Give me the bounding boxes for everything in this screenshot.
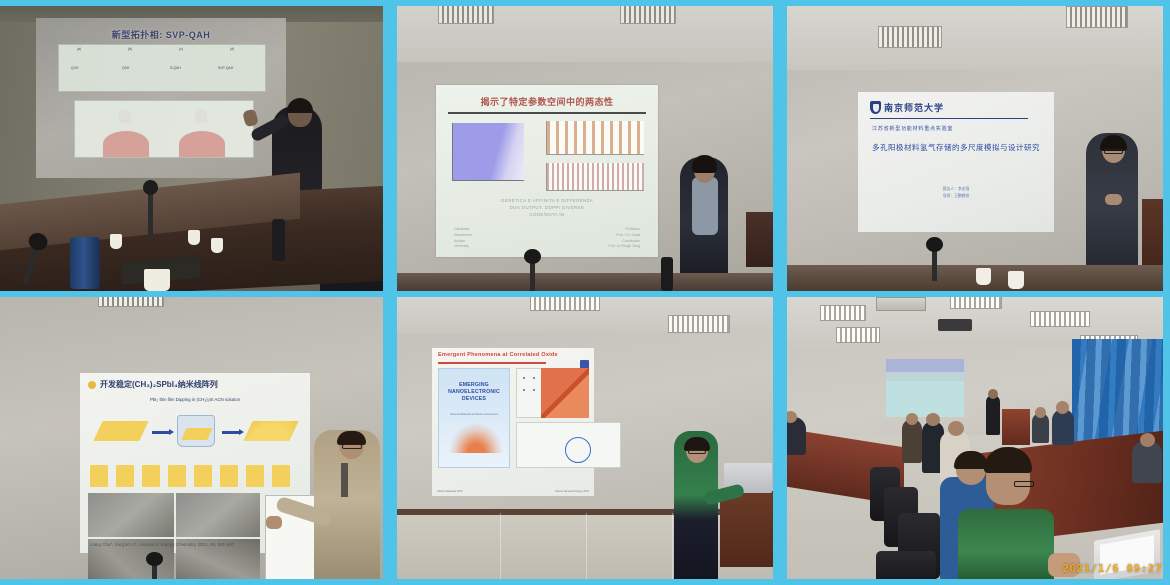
lattice-dot: [533, 389, 535, 391]
paper-cup-1: [976, 268, 991, 285]
credit-line-3: CODE/DATA IN: [436, 211, 658, 218]
peak-right: [179, 131, 225, 157]
name-left-4: University: [454, 244, 472, 250]
presenter-tie: [341, 463, 348, 497]
attendee-left-1: [902, 419, 922, 463]
phase-label-sqah: S-QAH: [170, 66, 181, 70]
lab-name: 江苏省新型功能材料重点实验室: [872, 125, 953, 132]
circle-diagram: [565, 437, 591, 463]
sample-strip-3: [142, 465, 160, 487]
frame-left: [390, 291, 397, 585]
podium: [1002, 409, 1030, 445]
paper-cup-4: [144, 269, 170, 291]
curve-left: [119, 109, 131, 123]
sample-strip-5: [194, 465, 212, 487]
cover-subtitle: Advanced Materials and Device Architectu…: [443, 413, 505, 416]
presenter-hair: [684, 437, 710, 451]
sample-strip-4: [168, 465, 186, 487]
sample-strip-2: [116, 465, 134, 487]
fig-label-c: (c): [179, 47, 183, 51]
paper-cup-2: [1008, 271, 1024, 289]
presenter-glasses: [688, 450, 706, 454]
frame-top: [390, 291, 780, 297]
standing-speaker-head: [988, 389, 998, 399]
floor-tile-line: [586, 513, 587, 585]
presenter-torso: [692, 177, 718, 235]
ceiling-projector: [938, 319, 972, 331]
photo-panel-6: 2021/1/6 09:27: [780, 291, 1170, 585]
slide-authors: 报告人：李志强 导师：王鹏教授: [858, 186, 1054, 200]
panel-6-image: 2021/1/6 09:27: [780, 291, 1170, 585]
cover-title: EMERGING NANOELECTRONIC DEVICES: [439, 382, 509, 403]
timeseries-chart-bottom: [546, 163, 644, 191]
podium: [720, 491, 776, 567]
frame-right: [383, 0, 390, 291]
attendee-right-1-head: [1035, 407, 1046, 418]
panel-2-image: 揭示了特定参数空间中的两态性 GENETICA E AFFINITA E DIF…: [390, 0, 780, 291]
lattice-dot: [533, 377, 535, 379]
lattice-dot: [523, 377, 525, 379]
peak-left: [103, 131, 149, 157]
sample-strip-1: [90, 465, 108, 487]
slide-figure-top: (a) (b) (c) (d) QVH QSH S-QAH SVP-QAH: [58, 44, 266, 92]
panel-5-image: Emergent Phenomena at Correlated Oxide E…: [390, 291, 780, 585]
shield-icon: [870, 101, 881, 114]
names-right: Professor Prof. Y.H. Small Coordinator P…: [609, 227, 640, 250]
fig-label-a: (a): [77, 47, 81, 51]
panel-4-image: 开发稳定(CH₃)₂SPbI₄纳米线阵列 PbI₂ thin film Dipp…: [0, 291, 390, 585]
phase-label-svpqah: SVP-QAH: [218, 66, 233, 70]
university-logo: 南京师范大学: [870, 101, 944, 114]
fig-label-d: (d): [230, 47, 234, 51]
photo-panel-2: 揭示了特定参数空间中的两态性 GENETICA E AFFINITA E DIF…: [390, 0, 780, 291]
ceiling-light-2: [836, 327, 880, 343]
timeseries-chart-top: [546, 121, 644, 155]
process-arrow-1: [152, 431, 170, 434]
ceiling-light-1: [878, 26, 942, 48]
standing-speaker-body: [986, 395, 1000, 435]
ceiling-light-2: [668, 315, 730, 333]
heatmap-chart: [452, 123, 524, 181]
curve-right: [195, 109, 207, 123]
frame-right: [773, 0, 780, 291]
frame-left: [390, 0, 397, 291]
photo-panel-1: 新型拓扑相: SVP-QAH (a) (b) (c) (d) QVH QSH S…: [0, 0, 390, 291]
slide-title: 多孔阳极材料氢气存储的多尺度模拟与设计研究: [868, 142, 1044, 155]
frame-right: [383, 291, 390, 585]
footnote-left: Nature Materials 2019: [437, 490, 463, 493]
floor-tile-line: [672, 513, 673, 585]
ceiling-light-2: [1066, 6, 1128, 28]
slide-title: 开发稳定(CH₃)₂SPbI₄纳米线阵列: [100, 379, 218, 390]
frame-bottom: [780, 579, 1170, 585]
presenter-hair: [337, 431, 366, 445]
sample-strip-6: [220, 465, 238, 487]
slide-figure-bottom: [74, 100, 254, 158]
presenter-glasses: [1104, 149, 1123, 154]
attendee-right-3: [1132, 441, 1162, 483]
substrate-in-beaker: [181, 428, 213, 440]
photo-panel-3: 南京师范大学 江苏省新型功能材料重点实验室 多孔阳极材料氢气存储的多尺度模拟与设…: [780, 0, 1170, 291]
slide-text: [886, 383, 964, 388]
ceiling-light-1: [820, 305, 866, 321]
microphone-center: [148, 191, 153, 236]
blue-thermos: [70, 237, 100, 289]
floor-tile-line: [500, 513, 501, 585]
panel-1-image: 新型拓扑相: SVP-QAH (a) (b) (c) (d) QVH QSH S…: [0, 0, 390, 291]
attendee-right-2-head: [1056, 401, 1069, 414]
substrate-2: [243, 421, 298, 441]
substrate-1: [93, 421, 148, 441]
credit-line-1: GENETICA E AFFINITA E DIFFERENZA: [436, 197, 658, 204]
black-bottle: [272, 219, 285, 261]
projection-screen: 揭示了特定参数空间中的两态性 GENETICA E AFFINITA E DIF…: [436, 85, 658, 257]
names-left: Candidate Department Advisor University: [454, 227, 472, 250]
frame-right: [773, 291, 780, 585]
frame-top: [780, 291, 1170, 297]
frame-right: [1163, 0, 1170, 291]
sem-image-1: [88, 493, 174, 537]
process-caption: PbI₂ thin film Dipping in (CH₃)₂SI ACN s…: [80, 397, 310, 402]
projection-screen: [886, 359, 964, 417]
lattice-dot: [523, 389, 525, 391]
cover-graphic: [449, 423, 503, 453]
frame-right: [1163, 291, 1170, 585]
frame-top: [390, 0, 780, 6]
footnote-right: Nature Nanotechnology 2020: [555, 490, 589, 493]
university-name: 南京师范大学: [884, 101, 944, 114]
photo-panel-5: Emergent Phenomena at Correlated Oxide E…: [390, 291, 780, 585]
sem-image-2: [176, 493, 260, 537]
slide-credits: GENETICA E AFFINITA E DIFFERENZA DUA OUT…: [436, 197, 658, 218]
frame-top: [0, 0, 390, 6]
frame-bottom: [0, 579, 390, 585]
frame-top: [780, 0, 1170, 6]
paper-cup-1: [110, 234, 122, 249]
frame-left: [780, 291, 787, 585]
black-bottle: [661, 257, 673, 291]
attendee-left-2-head: [926, 413, 940, 426]
sample-strip-7: [246, 465, 264, 487]
attendee-left-1-head: [906, 413, 918, 425]
microphone: [530, 261, 535, 291]
attendee-fg-green-glasses: [1014, 481, 1034, 487]
slide-title: 新型拓扑相: SVP-QAH: [36, 28, 286, 41]
presenter-hands: [1105, 194, 1122, 205]
logo-divider: [870, 118, 1028, 119]
photo-collage: 新型拓扑相: SVP-QAH (a) (b) (c) (d) QVH QSH S…: [0, 0, 1170, 585]
phase-label-qsh: QSH: [122, 66, 129, 70]
slide-title: 揭示了特定参数空间中的两态性: [436, 95, 658, 108]
presenter-hair: [692, 155, 717, 173]
fig-label-b: (b): [128, 47, 132, 51]
author-line-1: 报告人：李志强: [858, 186, 1054, 193]
microphone: [932, 249, 937, 281]
slide-footnotes: Nature Materials 2019 Nature Nanotechnol…: [437, 490, 589, 493]
name-left-1: Candidate: [454, 227, 472, 233]
bullet-icon: [88, 381, 96, 389]
projection-screen: 南京师范大学 江苏省新型功能材料重点实验室 多孔阳极材料氢气存储的多尺度模拟与设…: [858, 92, 1054, 232]
slide-names: Candidate Department Advisor University …: [454, 227, 640, 250]
phase-label-qvh: QVH: [71, 66, 78, 70]
figure-panel-b: [541, 368, 589, 418]
paper-cup-2: [188, 230, 200, 245]
attendee-right-2: [1052, 409, 1074, 445]
attendee-left-3-head: [948, 421, 964, 436]
beaker: [177, 415, 215, 447]
attendee-right-3-head: [1140, 433, 1155, 447]
presenter-hand: [266, 516, 282, 529]
air-conditioner-vent: [876, 297, 926, 311]
presenter-glasses: [342, 444, 362, 449]
attendee-fg-green: [958, 509, 1054, 585]
camera-timestamp: 2021/1/6 09:27: [1062, 562, 1162, 575]
frame-top: [0, 291, 390, 297]
photo-panel-4: 开发稳定(CH₃)₂SPbI₄纳米线阵列 PbI₂ thin film Dipp…: [0, 291, 390, 585]
slide-rule: [438, 362, 546, 364]
paper-cup-3: [211, 238, 223, 253]
ceiling-light-4: [1030, 311, 1090, 327]
author-line-2: 导师：王鹏教授: [858, 193, 1054, 200]
frame-bottom: [390, 579, 780, 585]
name-right-4: Prof. Le Rough Zang: [609, 244, 640, 250]
slide-citation: Liang Chu*, Xing'ao Li*, Journal of Ener…: [90, 542, 300, 547]
figure-panel-c: [516, 422, 621, 468]
process-arrow-2: [222, 431, 240, 434]
slide-title: Emergent Phenomena at Correlated Oxide: [438, 352, 558, 358]
journal-cover: EMERGING NANOELECTRONIC DEVICES Advanced…: [438, 368, 510, 468]
sample-strip-8: [272, 465, 290, 487]
name-left-2: Department: [454, 233, 472, 239]
table-edge: [780, 265, 1170, 291]
projection-screen: Emergent Phenomena at Correlated Oxide E…: [432, 348, 594, 496]
slide-rule: [448, 112, 646, 114]
projection-screen: 新型拓扑相: SVP-QAH (a) (b) (c) (d) QVH QSH S…: [36, 18, 286, 178]
table-edge: [390, 273, 780, 291]
panel-3-image: 南京师范大学 江苏省新型功能材料重点实验室 多孔阳极材料氢气存储的多尺度模拟与设…: [780, 0, 1170, 291]
frame-left: [780, 0, 787, 291]
credit-line-2: DUA OUTPUT: DOPPI DIVERSE: [436, 204, 658, 211]
